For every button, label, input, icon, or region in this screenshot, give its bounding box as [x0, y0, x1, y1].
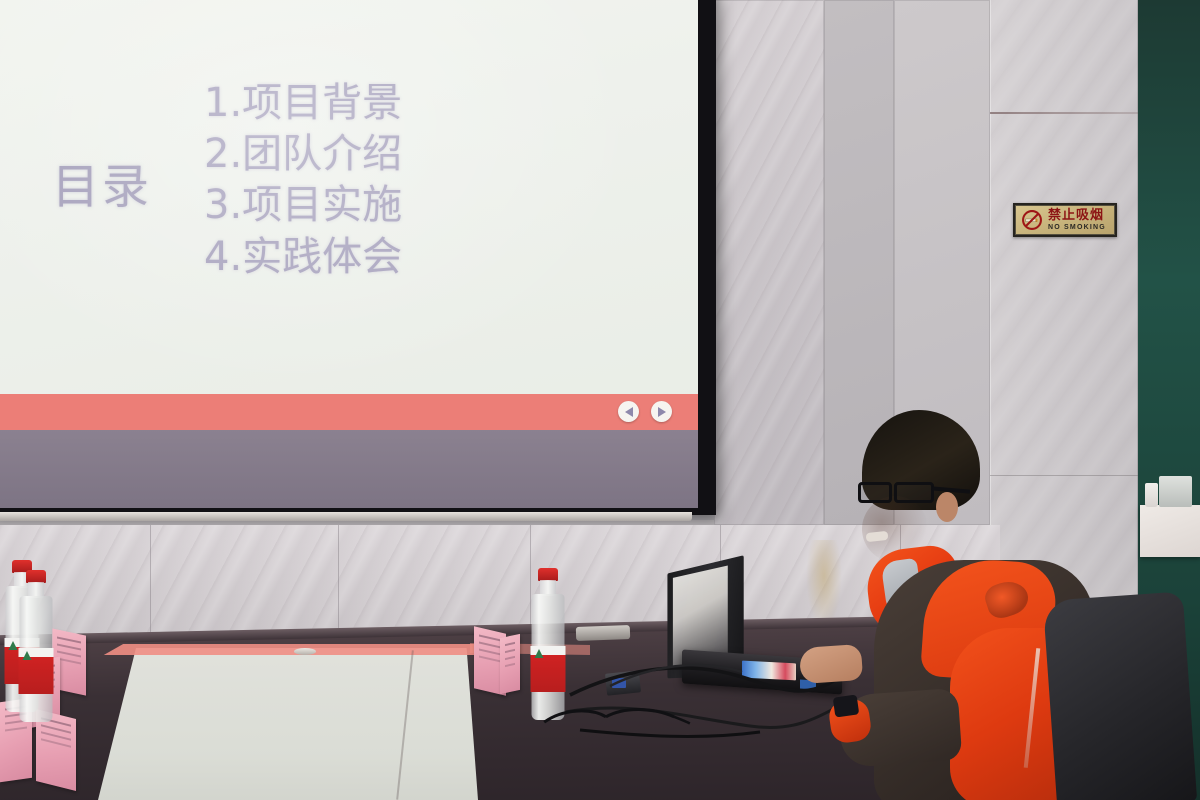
eyeglasses [858, 482, 934, 504]
slide-agenda-list: 1.项目背景 2.团队介绍 3.项目实施 4.实践体会 [204, 78, 402, 283]
no-smoking-chinese-text: 禁止吸烟 [1048, 209, 1106, 222]
screen-lower-gray-area [0, 430, 698, 508]
no-smoking-english-text: NO SMOKING [1048, 224, 1106, 231]
glasses-lens [858, 482, 892, 503]
slide-accent-band [0, 394, 698, 430]
conference-room-scene: 禁止吸烟 NO SMOKING 目录 1.项目背景 2.团队介绍 3.项目实施 … [0, 0, 1200, 800]
office-chair [1043, 591, 1197, 800]
no-smoking-icon [1021, 209, 1043, 231]
next-slide-button[interactable] [651, 401, 672, 422]
no-smoking-sign: 禁止吸烟 NO SMOKING [1013, 203, 1117, 237]
screen-bottom-bar [0, 512, 692, 521]
wristwatch [833, 694, 860, 717]
presentation-slide: 目录 1.项目背景 2.团队介绍 3.项目实施 4.实践体会 [0, 0, 698, 430]
previous-slide-button[interactable] [618, 401, 639, 422]
marble-wall-panel [714, 0, 824, 525]
agenda-item: 4.实践体会 [204, 232, 402, 283]
agenda-item: 1.项目背景 [204, 78, 402, 129]
ear [936, 492, 958, 522]
hand-on-keyboard [799, 644, 863, 684]
arrow-right-icon [658, 407, 666, 417]
table-knob [294, 648, 316, 655]
arrow-left-icon [625, 407, 633, 417]
agenda-item: 2.团队介绍 [204, 129, 402, 180]
table-reflection-accent-band [96, 644, 484, 655]
bottle-label [19, 648, 54, 694]
slide-navigation [618, 401, 672, 422]
water-bottle [16, 570, 56, 730]
pillar-seam [990, 112, 1138, 114]
remote-control[interactable] [576, 625, 630, 641]
table-projection-reflection [98, 648, 478, 800]
name-tent-card [500, 634, 520, 694]
agenda-item: 3.项目实施 [204, 180, 402, 231]
wall-stain [806, 540, 842, 630]
slide-title: 目录 [52, 148, 152, 217]
glasses-lens [894, 482, 934, 503]
